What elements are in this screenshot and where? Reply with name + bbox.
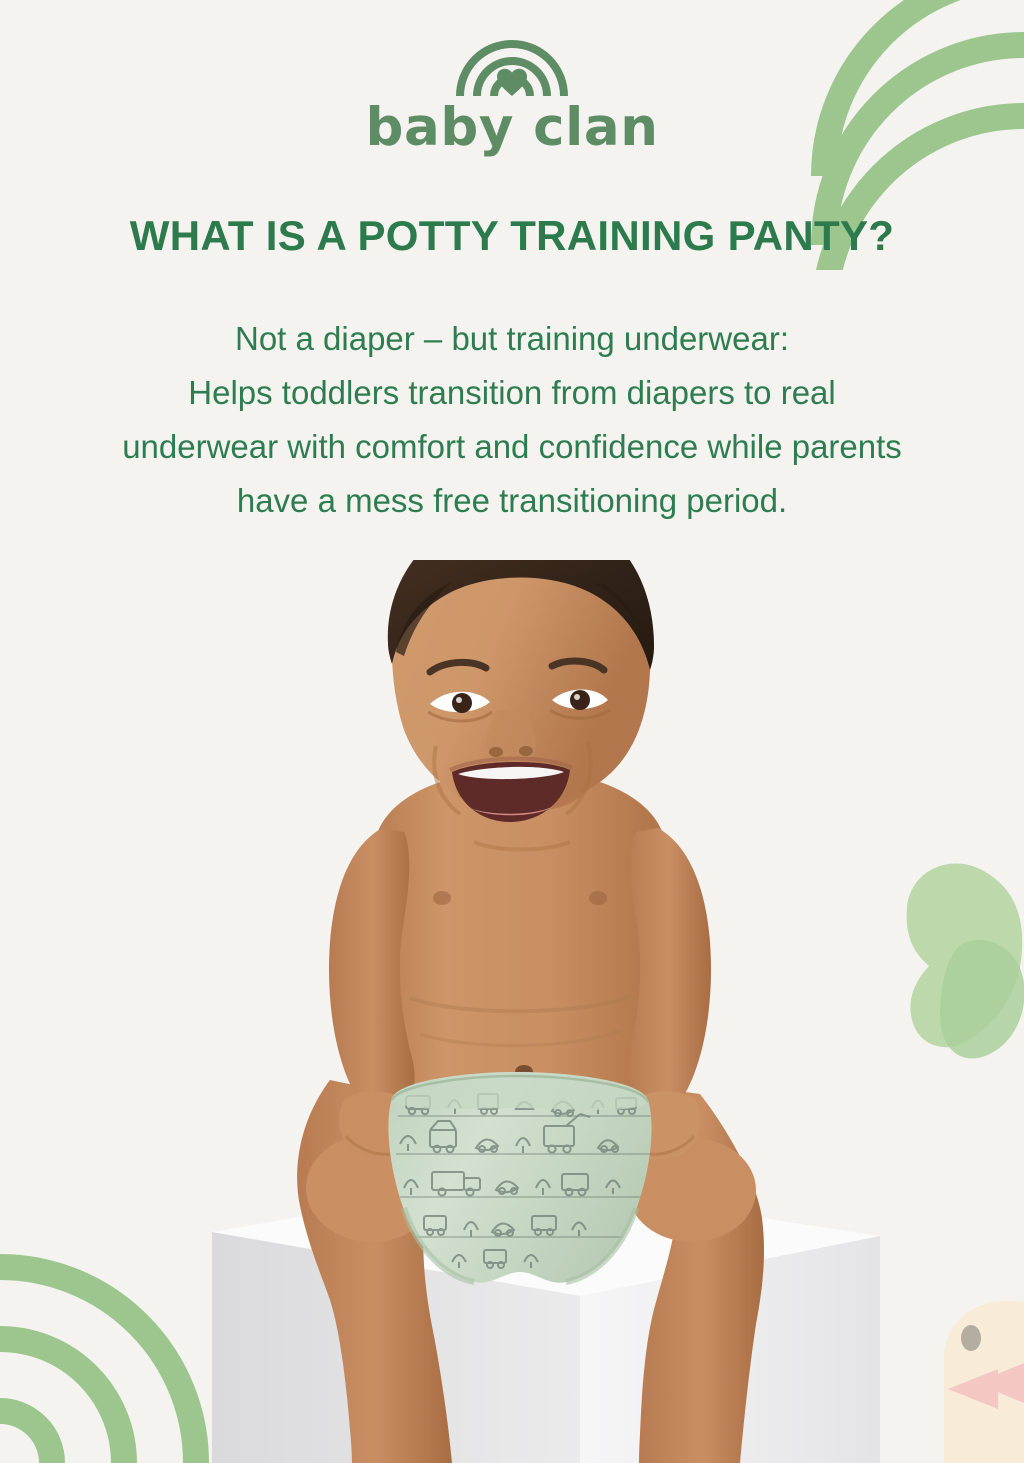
baby-product-photo — [0, 560, 1024, 1463]
brand-logo: baby clan — [0, 26, 1024, 156]
brand-wordmark: baby clan — [365, 100, 658, 156]
body-line-4: have a mess free transitioning period. — [10, 474, 1014, 528]
body-description: Not a diaper – but training underwear: H… — [10, 312, 1014, 528]
body-line-1: Not a diaper – but training underwear: — [10, 312, 1014, 366]
page-title: WHAT IS A POTTY TRAINING PANTY? — [0, 212, 1024, 260]
body-line-2: Helps toddlers transition from diapers t… — [10, 366, 1014, 420]
poster-canvas: baby clan WHAT IS A POTTY TRAINING PANTY… — [0, 0, 1024, 1463]
potty-training-panty — [388, 1072, 652, 1283]
body-line-3: underwear with comfort and confidence wh… — [10, 420, 1014, 474]
rainbow-heart-icon — [453, 26, 571, 98]
